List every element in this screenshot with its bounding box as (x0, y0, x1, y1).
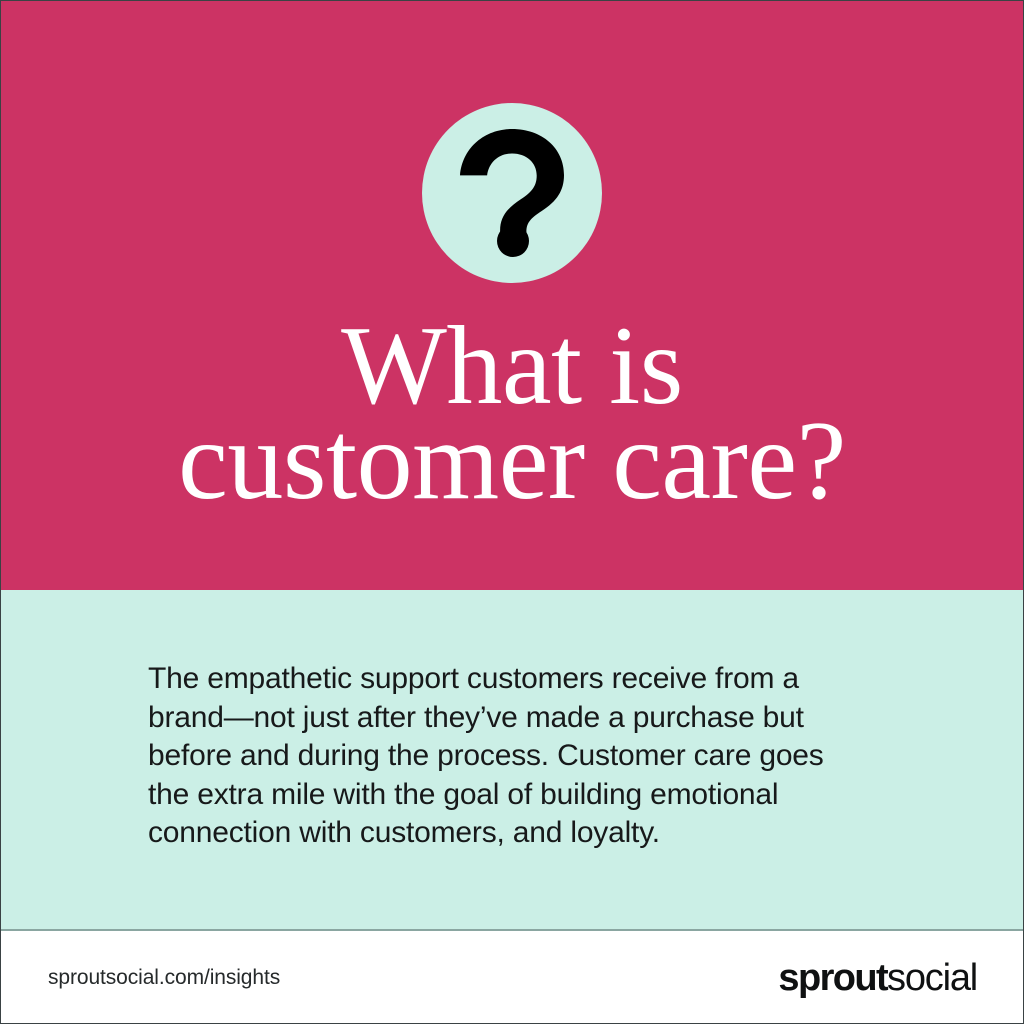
footer-bar: sproutsocial.com/insights sproutsocial (1, 933, 1023, 1023)
definition-text: The empathetic support customers receive… (148, 660, 860, 853)
definition-panel: The empathetic support customers receive… (1, 590, 1023, 931)
page-title: What is customer care? (1, 319, 1023, 509)
logo-word-social: social (887, 957, 977, 1000)
footer-url[interactable]: sproutsocial.com/insights (48, 966, 280, 990)
title-line-2: customer care? (1, 414, 1023, 509)
hero-panel: What is customer care? (1, 1, 1023, 590)
social-graphic-card: What is customer care? The empathetic su… (0, 0, 1024, 1024)
question-badge (422, 103, 602, 283)
question-mark-icon (460, 129, 564, 257)
sprout-social-logo[interactable]: sproutsocial (778, 957, 977, 1000)
logo-word-sprout: sprout (778, 957, 887, 1000)
